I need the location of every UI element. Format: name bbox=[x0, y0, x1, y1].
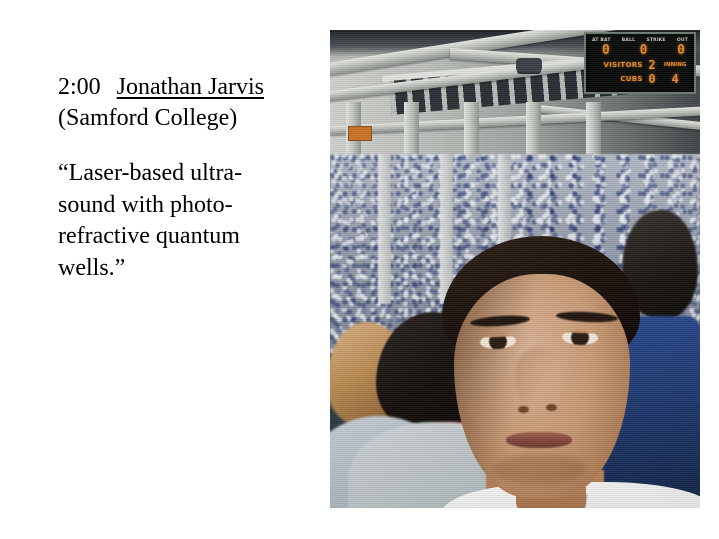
deck-column bbox=[464, 102, 479, 160]
quote-line-2: sound with photo- bbox=[58, 190, 298, 222]
subject-nostril-right bbox=[546, 404, 557, 411]
stadium-light-fixture bbox=[516, 58, 542, 72]
scoreboard-inning-label: INNING bbox=[661, 62, 689, 68]
scoreboard-row-cubs: CUBS 0 4 bbox=[591, 73, 689, 85]
scoreboard-count-digits: 0 0 0 bbox=[591, 44, 689, 57]
quote-line-3: refractive quantum bbox=[58, 221, 298, 253]
scoreboard-out-count: 0 bbox=[677, 44, 685, 57]
speaker-affiliation: (Samford College) bbox=[58, 103, 313, 134]
scoreboard-cubs-label: CUBS bbox=[591, 75, 643, 83]
schedule-entry-line: 2:00Jonathan Jarvis bbox=[58, 72, 313, 103]
scoreboard-strike-count: 0 bbox=[640, 44, 648, 57]
deck-column bbox=[586, 102, 601, 160]
deck-column bbox=[526, 102, 541, 160]
eyelid bbox=[562, 329, 598, 333]
subject-nostril-left bbox=[518, 406, 529, 413]
scoreboard-visitors-score: 2 bbox=[643, 59, 661, 71]
speaker-photo: AT BAT BALL STRIKE OUT 0 0 0 VISITORS 2 … bbox=[330, 30, 700, 508]
scoreboard-inning-value: 4 bbox=[661, 73, 689, 85]
slide-text-column: 2:00Jonathan Jarvis (Samford College) “L… bbox=[58, 72, 313, 284]
eyelid bbox=[480, 333, 516, 338]
speaker-name: Jonathan Jarvis bbox=[117, 74, 264, 100]
quote-line-4: wells.” bbox=[58, 253, 298, 285]
quote-line-1: “Laser-based ultra- bbox=[58, 158, 298, 190]
deck-column bbox=[404, 102, 419, 160]
scoreboard-header-strike: STRIKE bbox=[646, 38, 665, 43]
scoreboard-header-ball: BALL bbox=[622, 38, 635, 43]
stadium-sign bbox=[348, 126, 372, 141]
scoreboard-cubs-score: 0 bbox=[643, 73, 661, 85]
crowd-pillar bbox=[378, 154, 391, 304]
scoreboard-ball-count: 0 bbox=[602, 44, 610, 57]
subject-chin-shadow bbox=[494, 454, 586, 484]
scoreboard-visitors-label: VISITORS bbox=[591, 61, 643, 69]
subject-mouth bbox=[506, 432, 572, 448]
scoreboard-row-visitors: VISITORS 2 INNING bbox=[591, 59, 689, 71]
talk-time: 2:00 bbox=[58, 74, 101, 100]
stadium-scoreboard: AT BAT BALL STRIKE OUT 0 0 0 VISITORS 2 … bbox=[584, 32, 696, 94]
talk-title-quote: “Laser-based ultra- sound with photo- re… bbox=[58, 158, 298, 284]
